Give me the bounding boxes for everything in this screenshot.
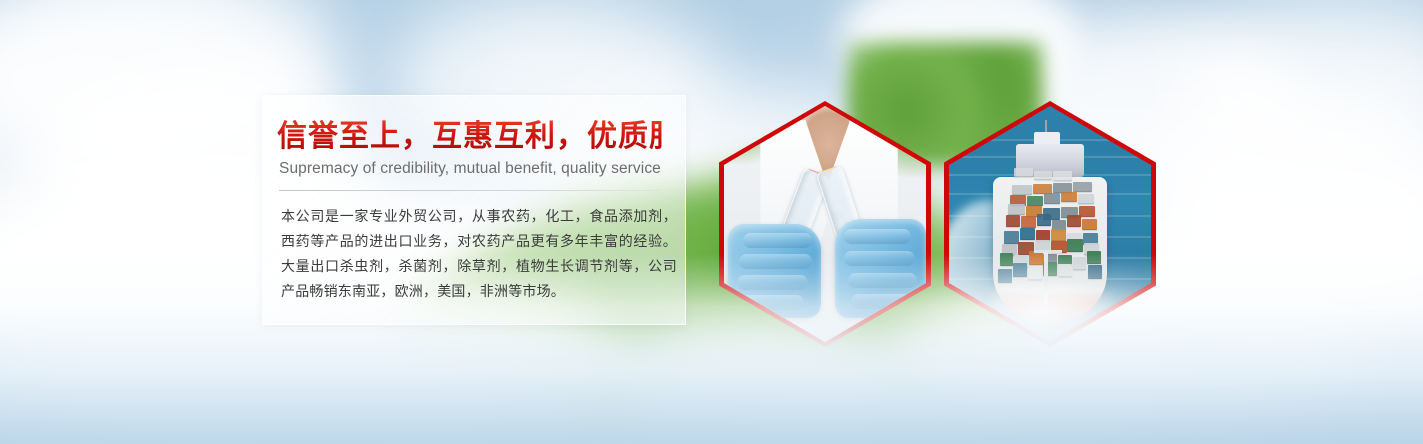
glove-finger — [844, 229, 911, 244]
shipping-container — [1082, 219, 1096, 231]
ship-crane-arm — [1034, 250, 1062, 253]
shipping-container — [1027, 196, 1043, 207]
shipping-container — [1061, 192, 1077, 203]
shipping-container — [1067, 215, 1081, 227]
divider — [279, 190, 661, 191]
shipping-container — [1006, 215, 1020, 227]
shipping-container — [1021, 216, 1035, 228]
shipping-container — [1067, 239, 1082, 252]
glove-finger — [743, 233, 812, 248]
shipping-container — [1004, 231, 1019, 243]
page-title: 信誉至上，互惠互利，优质服务 — [277, 120, 663, 154]
shipping-container — [1073, 257, 1087, 270]
shipping-container — [1088, 265, 1102, 279]
shipping-container — [1078, 194, 1094, 205]
shipping-container — [1058, 264, 1072, 278]
glove-finger — [848, 273, 917, 288]
glove-finger — [739, 254, 811, 269]
shipping-container — [1087, 251, 1101, 264]
shipping-container — [1053, 171, 1071, 181]
shipping-container — [1037, 214, 1051, 226]
glove-finger — [737, 275, 808, 290]
shipping-container — [1000, 253, 1014, 266]
shipping-container — [1012, 185, 1031, 195]
shipping-container — [998, 269, 1012, 283]
container-stack — [997, 167, 1102, 290]
shipping-container — [1020, 228, 1035, 240]
shipping-container — [1013, 263, 1027, 277]
promo-banner: 信誉至上，互惠互利，优质服务 Supremacy of credibility,… — [0, 0, 1423, 444]
shipping-container — [1008, 204, 1025, 215]
glove-finger — [844, 251, 915, 266]
shipping-container — [1034, 171, 1052, 181]
shipping-container — [1014, 168, 1032, 178]
shipping-container — [1028, 266, 1042, 280]
shipping-container — [1044, 193, 1060, 204]
shipping-container — [1073, 182, 1092, 192]
shipping-container — [1029, 251, 1043, 264]
intro-text-panel: 信誉至上，互惠互利，优质服务 Supremacy of credibility,… — [262, 95, 686, 325]
company-description: 本公司是一家专业外贸公司，从事农药，化工，食品添加剂，西药等产品的进出口业务，对… — [281, 204, 677, 304]
page-subtitle: Supremacy of credibility, mutual benefit… — [279, 160, 663, 178]
shipping-container — [1051, 229, 1066, 241]
